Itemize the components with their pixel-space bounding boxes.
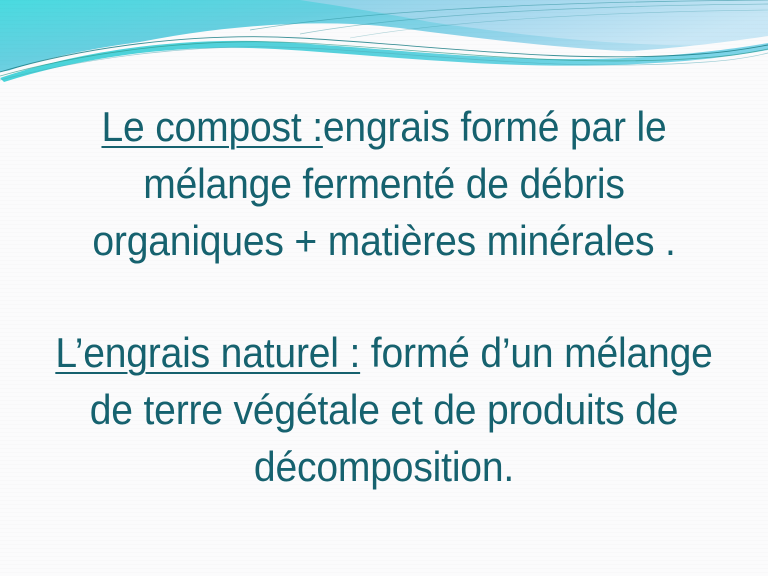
- banner-hairline-5: [300, 4, 768, 34]
- banner-hairline-6: [350, 10, 768, 38]
- banner-upper-wave: [0, 0, 768, 72]
- banner-turquoise-ribbon: [0, 41, 768, 82]
- banner-hairline-3: [0, 47, 768, 80]
- banner-blue-wedge: [300, 0, 768, 46]
- slide-canvas: Le compost :engrais formé par le mélange…: [0, 0, 768, 576]
- banner-hairline-2: [0, 42, 768, 76]
- compost-term: Le compost :: [101, 103, 322, 150]
- decorative-wave-banner: [0, 0, 768, 86]
- banner-hairline-4: [250, 0, 768, 30]
- engrais-naturel-term: L’engrais naturel :: [55, 329, 360, 376]
- banner-white-swoosh: [0, 36, 768, 86]
- paragraph-compost: Le compost :engrais formé par le mélange…: [51, 98, 717, 269]
- slide-body: Le compost :engrais formé par le mélange…: [0, 86, 768, 537]
- banner-hairline-1: [0, 37, 768, 72]
- paragraph-engrais-naturel: L’engrais naturel : formé d’un mélange d…: [51, 324, 717, 495]
